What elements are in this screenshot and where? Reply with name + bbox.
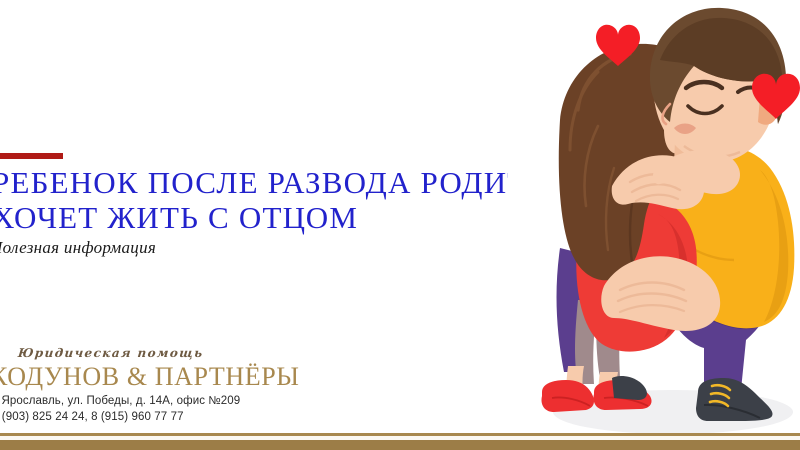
- text-panel: РЕБЕНОК ПОСЛЕ РАЗВОДА РОДИТЕЛЕЙ ХОЧЕТ ЖИ…: [0, 0, 560, 432]
- page-title: РЕБЕНОК ПОСЛЕ РАЗВОДА РОДИТЕЛЕЙ ХОЧЕТ ЖИ…: [0, 165, 567, 235]
- headline-line-2: ХОЧЕТ ЖИТЬ С ОТЦОМ: [0, 200, 567, 235]
- contact-phones: 8 (903) 825 24 24, 8 (915) 960 77 77: [0, 411, 184, 423]
- headline-line-1: РЕБЕНОК ПОСЛЕ РАЗВОДА РОДИТЕЛЕЙ: [0, 165, 567, 200]
- subtitle: Полезная информация: [0, 238, 156, 258]
- accent-bar: [0, 153, 63, 159]
- footer-stripe-thick: [0, 440, 800, 450]
- illustration-father-and-daughter: [508, 0, 800, 433]
- contact-address: г. Ярославль, ул. Победы, д. 14А, офис №…: [0, 395, 240, 407]
- banner-canvas: РЕБЕНОК ПОСЛЕ РАЗВОДА РОДИТЕЛЕЙ ХОЧЕТ ЖИ…: [0, 0, 800, 450]
- logo-name: КОДУНОВ & ПАРТНЁРЫ: [0, 362, 300, 392]
- logo-tagline: Юридическая помощь: [17, 346, 204, 360]
